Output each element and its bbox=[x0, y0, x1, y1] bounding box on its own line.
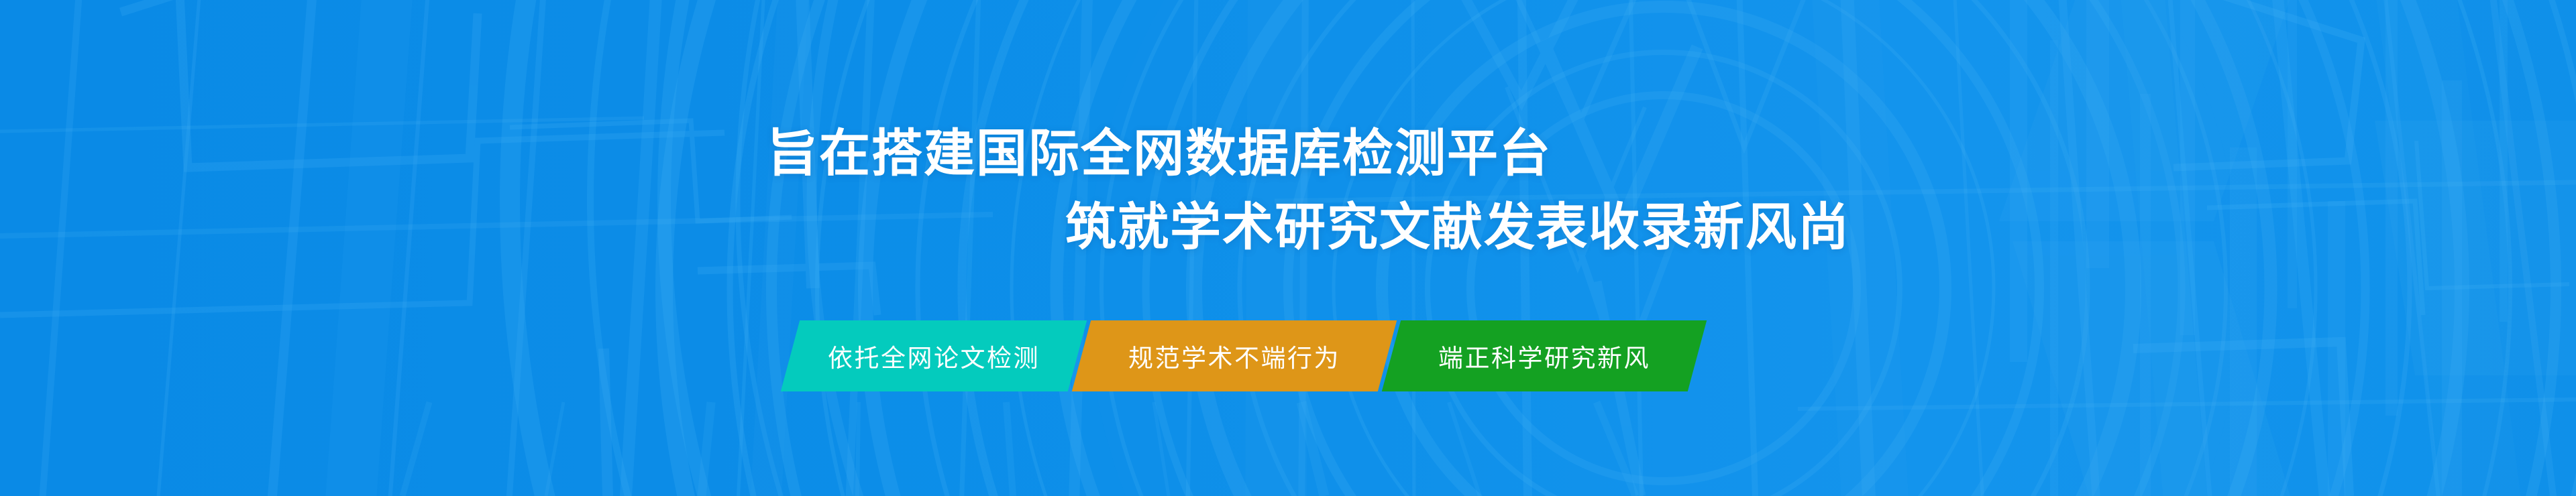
feature-tag-1[interactable]: 依托全网论文检测 bbox=[781, 320, 1087, 391]
feature-tag-strip: 依托全网论文检测 规范学术不端行为 端正科学研究新风 bbox=[790, 320, 1697, 391]
feature-tag-2-label: 规范学术不端行为 bbox=[1128, 338, 1340, 374]
promo-banner: 旨在搭建国际全网数据库检测平台 筑就学术研究文献发表收录新风尚 依托全网论文检测… bbox=[0, 0, 2576, 496]
feature-tag-3-label: 端正科学研究新风 bbox=[1438, 338, 1650, 374]
headline-line-1: 旨在搭建国际全网数据库检测平台 bbox=[0, 127, 2576, 181]
feature-tag-1-label: 依托全网论文检测 bbox=[828, 338, 1040, 374]
headline-line-2: 筑就学术研究文献发表收录新风尚 bbox=[0, 201, 2576, 255]
feature-tag-2[interactable]: 规范学术不端行为 bbox=[1072, 320, 1397, 391]
feature-tag-3[interactable]: 端正科学研究新风 bbox=[1382, 320, 1707, 391]
banner-content: 旨在搭建国际全网数据库检测平台 筑就学术研究文献发表收录新风尚 依托全网论文检测… bbox=[0, 0, 2576, 496]
